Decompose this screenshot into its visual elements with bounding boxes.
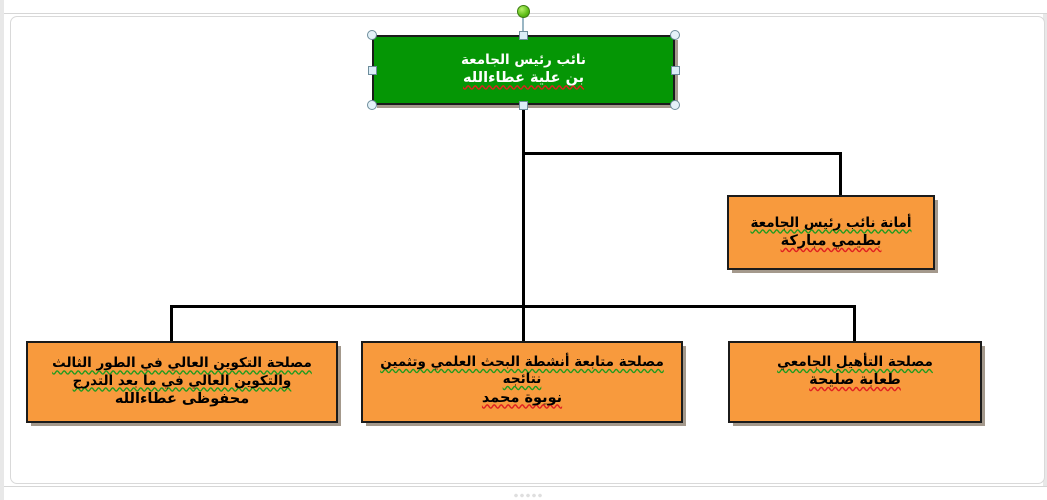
org-node-title: نائب رئيس الجامعة — [461, 52, 586, 69]
org-node-person: بن علية عطاءالله — [463, 69, 584, 88]
resize-handle-top-right[interactable] — [670, 30, 680, 40]
connector-child-1-drop — [170, 305, 173, 341]
resize-handle-middle-left[interactable] — [368, 66, 377, 75]
connector-root-stem — [522, 105, 525, 308]
connector-sibling-bar — [170, 305, 856, 308]
org-node-department-university-qualification[interactable]: مصلحة التأهيل الجامعي طعابة صليحة — [728, 341, 982, 423]
org-node-secretariat[interactable]: أمانة نائب رئيس الجامعة بطيمي مباركة — [727, 195, 935, 270]
org-node-vice-president[interactable]: نائب رئيس الجامعة بن علية عطاءالله — [372, 35, 675, 105]
drag-grip-handle[interactable] — [513, 493, 543, 498]
org-node-person: محفوظى عطاءالله — [115, 390, 249, 409]
org-node-person: بطيمي مباركة — [781, 232, 882, 251]
org-node-department-higher-training[interactable]: مصلحة التكوين العالي في الطور الثالث وال… — [26, 341, 338, 423]
org-node-person: طعابة صليحة — [809, 371, 901, 390]
resize-handle-top-center[interactable] — [519, 31, 528, 40]
resize-handle-top-left[interactable] — [367, 30, 377, 40]
connector-assistant-vertical — [839, 152, 842, 196]
org-node-department-research-monitoring[interactable]: مصلحة متابعة أنشطة البحث العلمي وتثمين ن… — [361, 341, 683, 423]
resize-handle-bottom-center[interactable] — [519, 101, 528, 110]
connector-child-2-drop — [522, 305, 525, 341]
resize-handle-middle-right[interactable] — [671, 66, 680, 75]
org-node-person: نويوة محمد — [482, 389, 562, 408]
application-frame: نائب رئيس الجامعة بن علية عطاءالله أمانة… — [0, 0, 1047, 500]
org-node-title: مصلحة متابعة أنشطة البحث العلمي وتثمين ن… — [373, 354, 671, 389]
org-node-title: أمانة نائب رئيس الجامعة — [751, 215, 912, 232]
resize-handle-bottom-right[interactable] — [670, 100, 680, 110]
connector-assistant-horizontal — [522, 152, 842, 155]
org-node-title: مصلحة التكوين العالي في الطور الثالث وال… — [38, 355, 326, 390]
frame-bottom-band — [4, 486, 1047, 500]
connector-child-3-drop — [853, 305, 856, 341]
rotate-handle[interactable] — [517, 5, 530, 18]
resize-handle-bottom-left[interactable] — [367, 100, 377, 110]
org-node-title: مصلحة التأهيل الجامعي — [777, 354, 933, 371]
